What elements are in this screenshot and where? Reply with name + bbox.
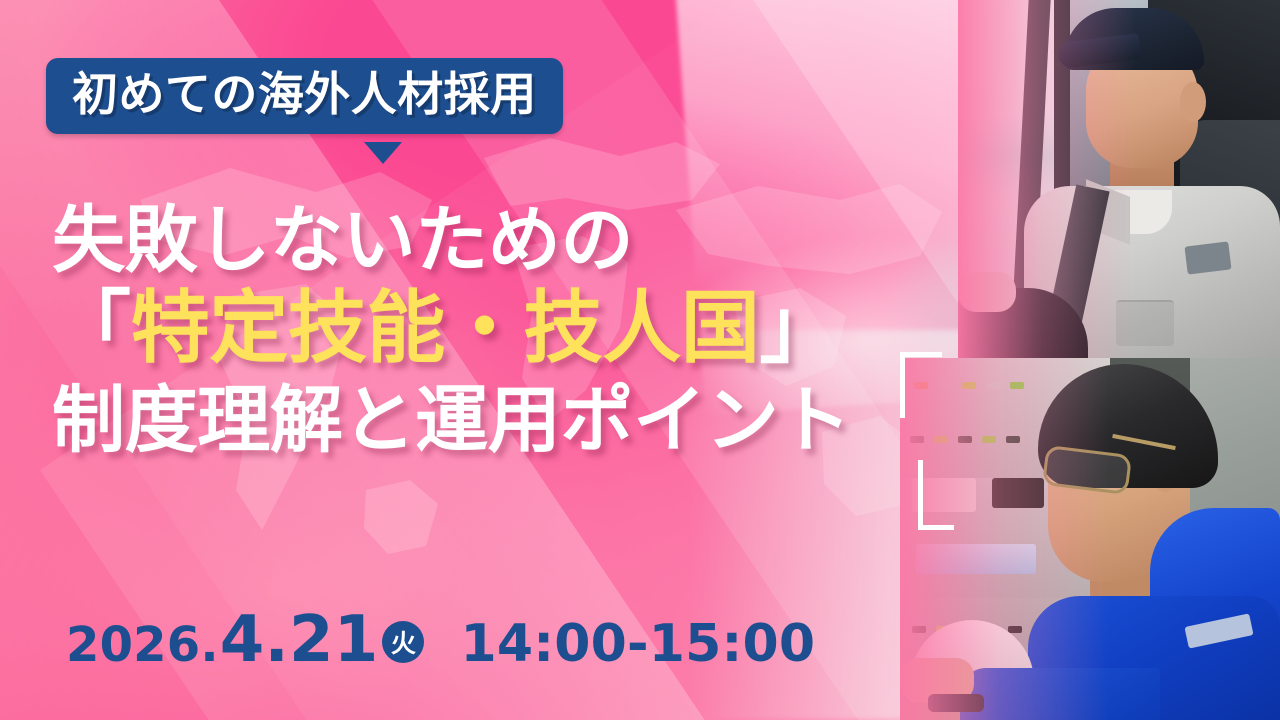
- badge-pointer-icon: [364, 142, 402, 164]
- schedule: 2026. 4.21 火 14:00-15:00: [66, 608, 815, 672]
- headline-line-1: 失敗しないための: [52, 196, 851, 285]
- headline-line-3: 制度理解と運用ポイント: [52, 377, 851, 465]
- webinar-banner: 初めての海外人材採用 失敗しないための 「特定技能・技人国」 制度理解と運用ポイ…: [0, 0, 1280, 720]
- banner-content: 初めての海外人材採用 失敗しないための 「特定技能・技人国」 制度理解と運用ポイ…: [0, 0, 1280, 720]
- badge-label: 初めての海外人材採用: [72, 69, 537, 121]
- headline-accent-text: 特定技能・技人国: [131, 282, 760, 374]
- schedule-year: 2026.: [66, 621, 219, 669]
- headline-open-bracket: 「: [52, 282, 131, 374]
- headline-line-2: 「特定技能・技人国」: [52, 283, 851, 375]
- schedule-time: 14:00-15:00: [460, 618, 815, 670]
- page-title: 失敗しないための 「特定技能・技人国」 制度理解と運用ポイント: [52, 196, 851, 464]
- badge: 初めての海外人材採用: [46, 58, 563, 134]
- headline-close-bracket: 」: [759, 282, 838, 374]
- badge-box: 初めての海外人材採用: [46, 58, 563, 134]
- schedule-day-of-week-badge: 火: [382, 621, 424, 663]
- schedule-month-day: 4.21: [220, 608, 379, 672]
